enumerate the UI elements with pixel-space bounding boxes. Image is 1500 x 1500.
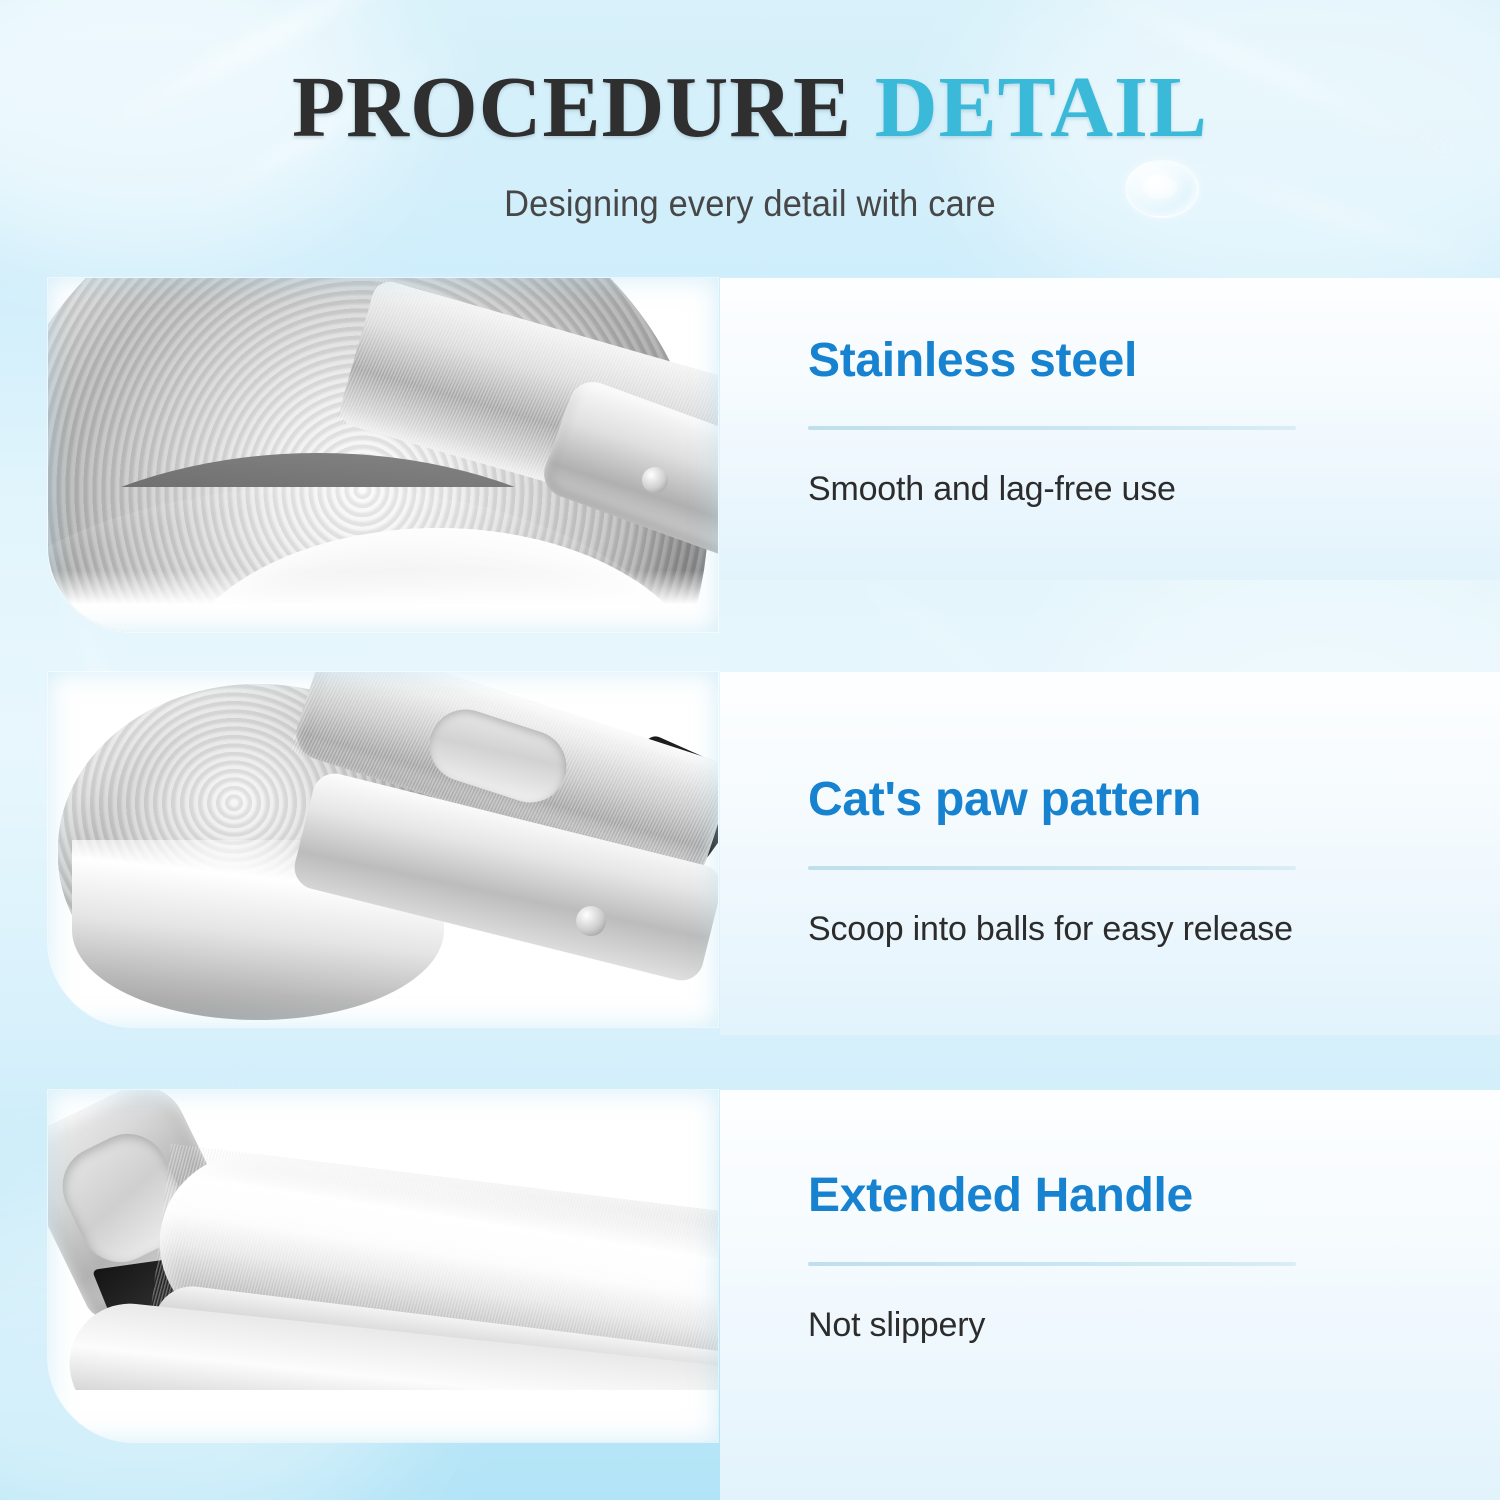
feature-section-2: Cat's paw pattern Scoop into balls for e… <box>0 672 1500 1035</box>
feature-body-3: Not slippery <box>808 1306 985 1345</box>
page-title-part-1: PROCEDURE <box>292 58 852 155</box>
feature-section-3: Extended Handle Not slippery <box>0 1090 1500 1500</box>
page-subtitle: Designing every detail with care <box>53 183 1448 225</box>
feature-body-2: Scoop into balls for easy release <box>808 910 1293 949</box>
feature-heading-3: Extended Handle <box>808 1168 1193 1223</box>
product-photo-extended-handle <box>48 1090 718 1442</box>
feature-section-1: Stainless steel Smooth and lag-free use <box>0 278 1500 580</box>
product-photo-cats-paw-pattern <box>48 672 718 1027</box>
feature-divider-2 <box>808 866 1296 870</box>
feature-heading-1: Stainless steel <box>808 333 1137 388</box>
feature-body-1: Smooth and lag-free use <box>808 470 1176 509</box>
feature-text-card-1: Stainless steel Smooth and lag-free use <box>720 278 1500 580</box>
page-title: PROCEDURE DETAIL <box>0 58 1500 155</box>
feature-text-card-3: Extended Handle Not slippery <box>720 1090 1500 1500</box>
feature-heading-2: Cat's paw pattern <box>808 772 1201 827</box>
feature-divider-3 <box>808 1262 1296 1266</box>
feature-text-card-2: Cat's paw pattern Scoop into balls for e… <box>720 672 1500 1035</box>
feature-image-card-2 <box>48 672 718 1027</box>
infographic-page: PROCEDURE DETAIL Designing every detail … <box>0 0 1500 1500</box>
feature-divider-1 <box>808 426 1296 430</box>
feature-image-card-1 <box>48 278 718 632</box>
product-photo-stainless-steel <box>48 278 718 632</box>
page-title-part-2: DETAIL <box>875 58 1208 155</box>
header: PROCEDURE DETAIL Designing every detail … <box>0 0 1500 272</box>
feature-image-card-3 <box>48 1090 718 1442</box>
